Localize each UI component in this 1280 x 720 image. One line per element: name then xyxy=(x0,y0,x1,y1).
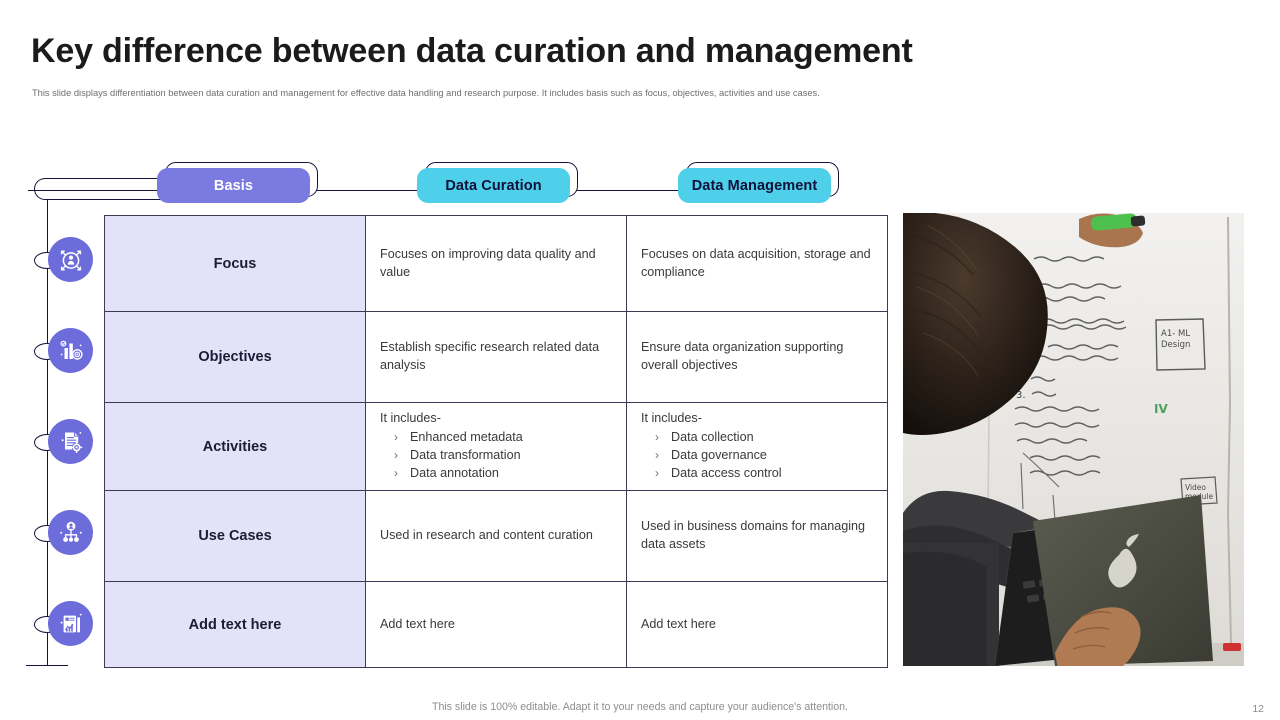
basis-cell-focus: Focus xyxy=(105,216,366,312)
cell-lead: Focuses on data acquisition, storage and… xyxy=(641,246,873,282)
comparison-table: Focus Focuses on improving data quality … xyxy=(104,215,888,668)
svg-text:A1- ML: A1- ML xyxy=(1161,329,1190,339)
cell-lead: Used in research and content curation xyxy=(380,527,612,545)
list-item: ›Enhanced metadata xyxy=(410,429,612,447)
header-pill-data-curation[interactable]: Data Curation xyxy=(417,168,570,203)
footer-note: This slide is 100% editable. Adapt it to… xyxy=(0,701,1280,713)
list-item-label: Data collection xyxy=(671,430,754,444)
header-pill-data-management[interactable]: Data Management xyxy=(678,168,831,203)
slide-canvas: Key difference between data curation and… xyxy=(0,0,1280,720)
page-title: Key difference between data curation and… xyxy=(31,32,913,71)
rail-foot-tick xyxy=(26,665,68,666)
row-icon-activities[interactable] xyxy=(48,419,93,464)
chevron-right-icon: › xyxy=(655,429,659,446)
table-row: Objectives Establish specific research r… xyxy=(105,312,888,403)
pill-link-0 xyxy=(28,190,160,191)
curation-cell-objectives: Establish specific research related data… xyxy=(366,312,627,403)
row-icon-objectives[interactable] xyxy=(48,328,93,373)
svg-text:IV: IV xyxy=(1154,402,1168,416)
list-item-label: Enhanced metadata xyxy=(410,430,523,444)
management-cell-use-cases: Used in business domains for managing da… xyxy=(627,491,888,582)
cell-lead: Ensure data organization supporting over… xyxy=(641,339,873,375)
table-row: Activities It includes- ›Enhanced metada… xyxy=(105,403,888,491)
cell-lead: Focuses on improving data quality and va… xyxy=(380,246,612,282)
bullet-list: ›Data collection ›Data governance ›Data … xyxy=(641,429,873,483)
page-number: 12 xyxy=(1252,703,1264,715)
curation-cell-add-text-here: Add text here xyxy=(366,582,627,668)
header-pill-basis-label: Basis xyxy=(157,168,310,203)
chevron-right-icon: › xyxy=(394,429,398,446)
list-item-label: Data annotation xyxy=(410,466,499,480)
cell-lead: Establish specific research related data… xyxy=(380,339,612,375)
curation-cell-focus: Focuses on improving data quality and va… xyxy=(366,216,627,312)
curation-cell-use-cases: Used in research and content curation xyxy=(366,491,627,582)
basis-cell-add-text-here: Add text here xyxy=(105,582,366,668)
management-cell-add-text-here: Add text here xyxy=(627,582,888,668)
whiteboard-photo-illustration: 2. 3. A1- ML Design IV Video module WA xyxy=(903,213,1244,666)
list-item: ›Data access control xyxy=(671,465,873,483)
header-pill-basis[interactable]: Basis xyxy=(157,168,310,203)
cell-lead: Used in business domains for managing da… xyxy=(641,518,873,554)
document-gear-icon xyxy=(56,427,86,457)
row-icon-use-cases[interactable] xyxy=(48,510,93,555)
cell-lead: Add text here xyxy=(380,616,612,634)
table-row: Focus Focuses on improving data quality … xyxy=(105,216,888,312)
management-cell-focus: Focuses on data acquisition, storage and… xyxy=(627,216,888,312)
chevron-right-icon: › xyxy=(655,447,659,464)
list-item-label: Data governance xyxy=(671,448,767,462)
list-item-label: Data transformation xyxy=(410,448,521,462)
pill-link-2 xyxy=(565,190,683,191)
svg-text:Video: Video xyxy=(1185,483,1206,492)
header-pill-data-management-label: Data Management xyxy=(678,168,831,203)
svg-text:Design: Design xyxy=(1161,340,1190,350)
list-item: ›Data governance xyxy=(671,447,873,465)
pill-link-1 xyxy=(305,190,423,191)
cell-lead: Add text here xyxy=(641,616,873,634)
rail-vertical-line xyxy=(47,199,48,666)
cell-lead: It includes- xyxy=(641,410,873,428)
cell-lead: It includes- xyxy=(380,410,612,428)
bullet-list: ›Enhanced metadata ›Data transformation … xyxy=(380,429,612,483)
row-icon-focus[interactable] xyxy=(48,237,93,282)
table-row: Add text here Add text here Add text her… xyxy=(105,582,888,668)
list-item-label: Data access control xyxy=(671,466,782,480)
whiteboard-photo: 2. 3. A1- ML Design IV Video module WA xyxy=(903,213,1244,666)
chevron-right-icon: › xyxy=(394,447,398,464)
header-pill-data-curation-label: Data Curation xyxy=(417,168,570,203)
basis-cell-objectives: Objectives xyxy=(105,312,366,403)
user-network-icon xyxy=(56,518,86,548)
page-subtitle: This slide displays differentiation betw… xyxy=(32,88,820,98)
table-row: Use Cases Used in research and content c… xyxy=(105,491,888,582)
bar-chart-target-icon xyxy=(56,336,86,366)
list-item: ›Data collection xyxy=(671,429,873,447)
row-icon-add-text-here[interactable] xyxy=(48,601,93,646)
basis-cell-use-cases: Use Cases xyxy=(105,491,366,582)
list-item: ›Data transformation xyxy=(410,447,612,465)
management-cell-objectives: Ensure data organization supporting over… xyxy=(627,312,888,403)
list-item: ›Data annotation xyxy=(410,465,612,483)
curation-cell-activities: It includes- ›Enhanced metadata ›Data tr… xyxy=(366,403,627,491)
target-person-icon xyxy=(56,245,86,275)
basis-cell-activities: Activities xyxy=(105,403,366,491)
management-cell-activities: It includes- ›Data collection ›Data gove… xyxy=(627,403,888,491)
rail-hook xyxy=(34,178,164,200)
report-chart-icon xyxy=(56,609,86,639)
chevron-right-icon: › xyxy=(394,465,398,482)
chevron-right-icon: › xyxy=(655,465,659,482)
